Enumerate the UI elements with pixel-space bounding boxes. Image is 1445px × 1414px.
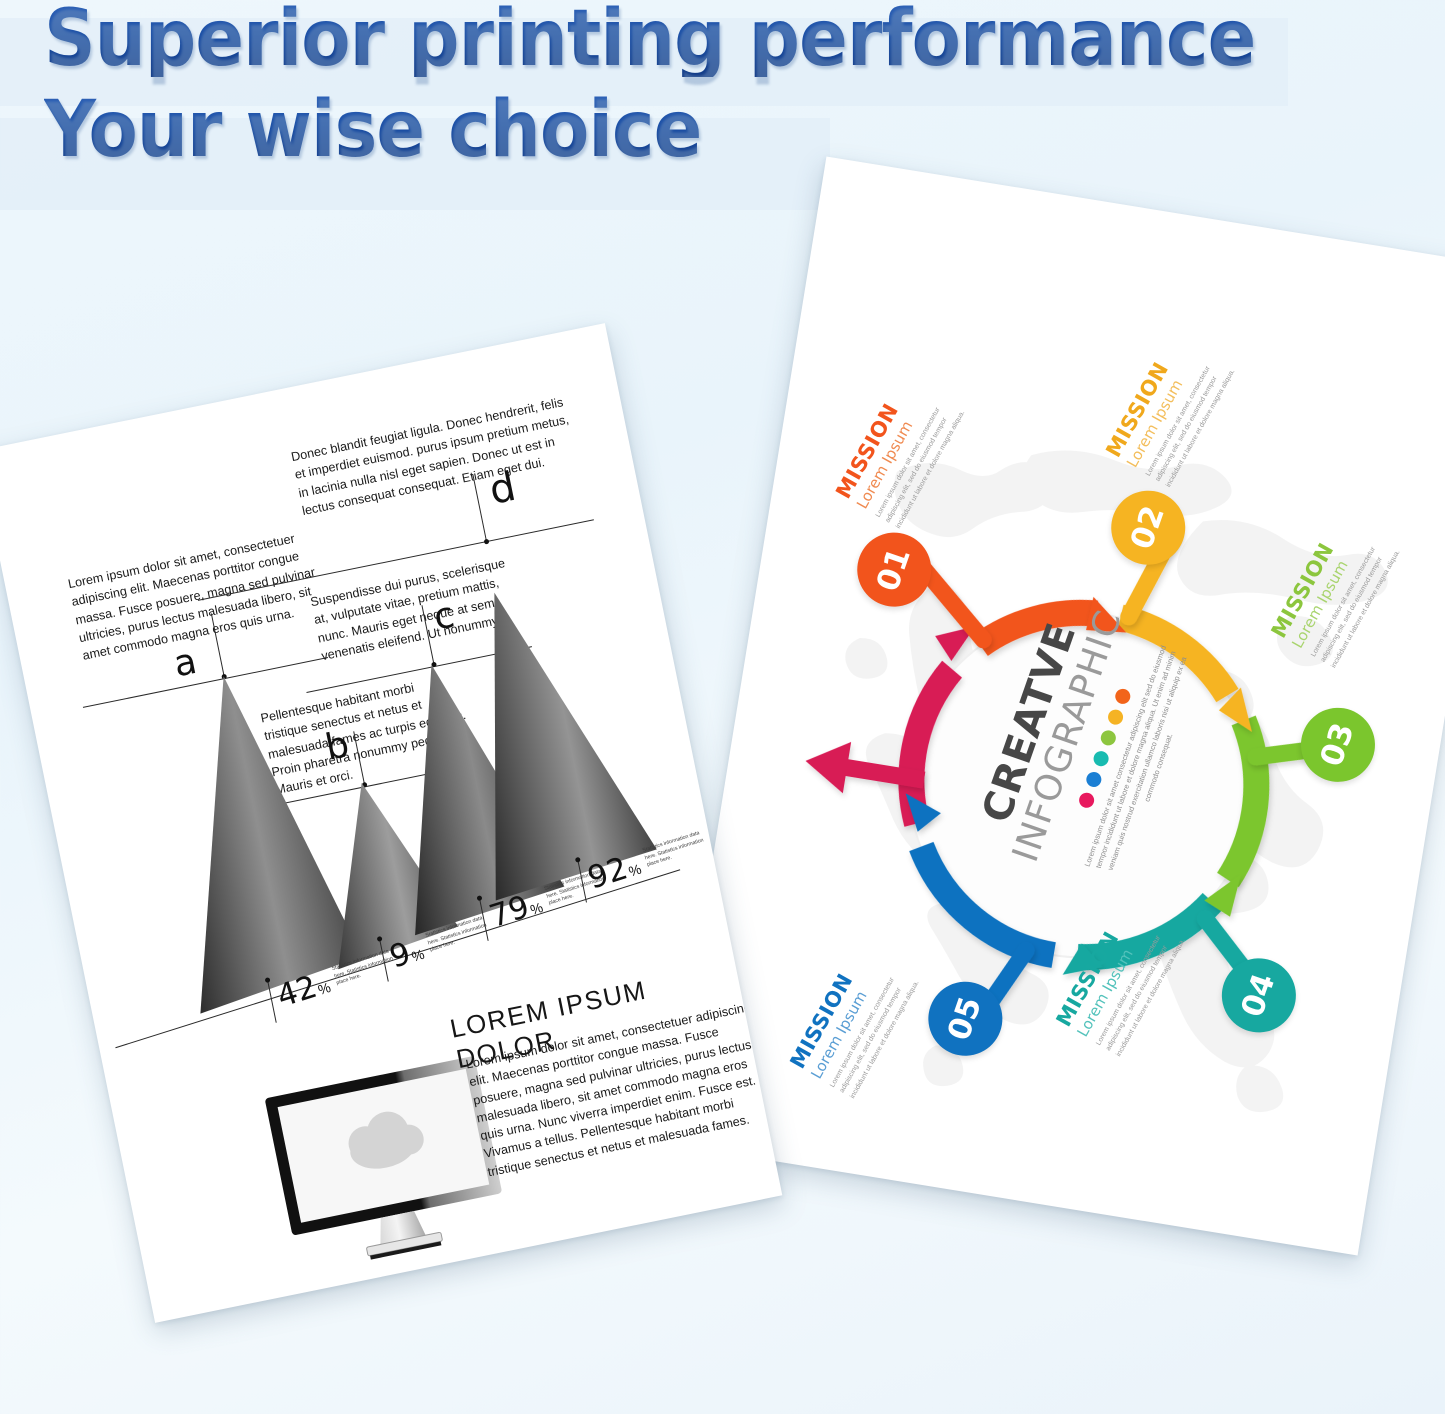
poster-canvas: Superior printing performance Your wise … (0, 0, 1445, 1414)
step-number-05: 05 (941, 992, 989, 1045)
headline-line-1: Superior printing performance (44, 2, 1295, 77)
color-dot-yellow (1106, 708, 1125, 727)
color-dot-green (1098, 729, 1117, 748)
color-dot-teal (1091, 749, 1110, 768)
headline-line-2: Your wise choice (44, 93, 1295, 168)
text-block-d: Donec blandit feugiat ligula. Donec hend… (290, 392, 583, 520)
color-dot-blue (1084, 770, 1103, 789)
printed-page-chart: Donec blandit feugiat ligula. Donec hend… (0, 323, 782, 1323)
printed-page-infographic: CREATVE INFOGRAPHIC Lorem ipsum dolor si… (667, 156, 1445, 1255)
color-dot-pink (1077, 791, 1096, 810)
step-number-04: 04 (1235, 969, 1283, 1022)
step-number-03: 03 (1314, 719, 1362, 772)
leader-dot-d (484, 539, 490, 545)
headline: Superior printing performance Your wise … (44, 2, 1404, 168)
step-number-01: 01 (870, 543, 918, 596)
vrule-d (472, 474, 487, 543)
step-number-02: 02 (1124, 501, 1172, 554)
color-dot-orange (1113, 687, 1132, 706)
